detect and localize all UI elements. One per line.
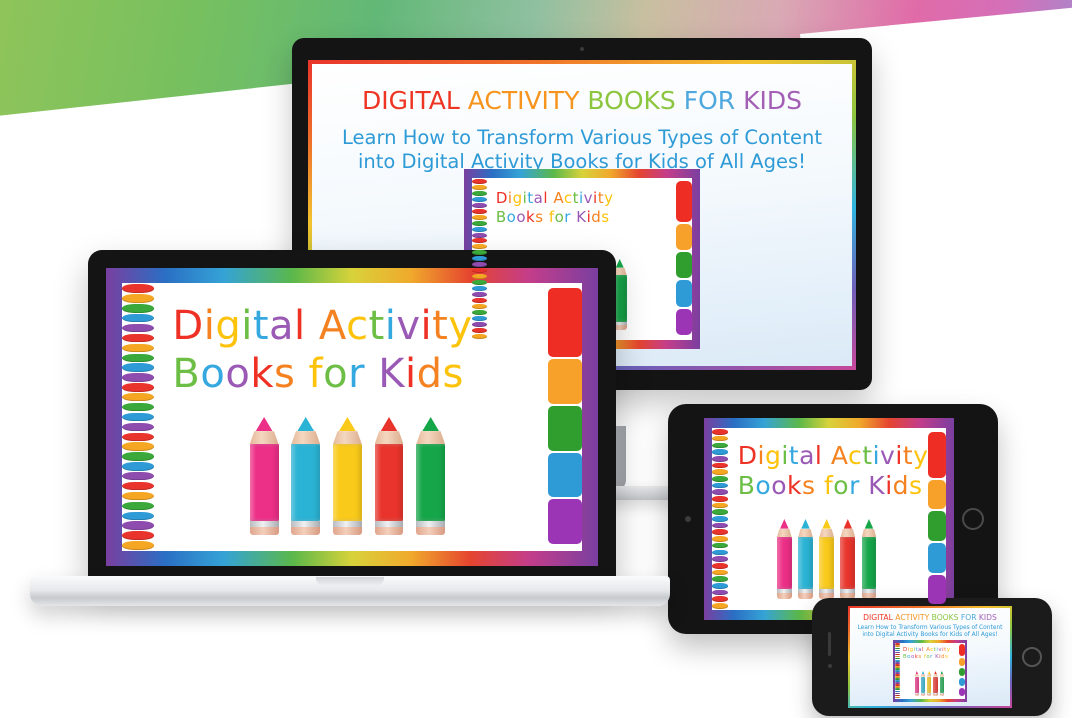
pencil-green [862,519,877,599]
book-cover: Digital ActivityBooks for Kids [893,640,967,702]
pencil-tip [256,417,273,431]
spiral-ring [472,238,487,243]
pencil-green [940,671,944,696]
pencil-body [840,537,855,589]
pencil-ferrule [375,521,404,527]
smartphone: DIGITAL ACTIVITY BOOKS FOR KIDS Learn Ho… [812,598,1052,716]
phone-speaker-icon [828,632,831,656]
cover-title-line-2: Books for Kids [496,208,666,226]
laptop-screen: Digital ActivityBooks for Kids [106,268,598,566]
cover-title-letter: d [417,351,443,397]
pencil-tip [381,417,398,431]
spiral-ring [472,250,487,255]
pencil-body [927,677,931,693]
cover-title-letter: K [378,351,405,397]
cover-title-letter: r [564,208,571,226]
pencil-body [798,537,813,589]
cover-index-tabs [548,288,583,546]
tab-blue[interactable] [928,543,946,573]
cover-title: Digital ActivityBooks for Kids [738,441,918,502]
cover-title-letter: s [443,351,464,397]
cover-title-letter: t [432,303,448,349]
cover-title-letter: o [833,471,849,500]
cover-title-letter: r [348,351,365,397]
cover-title-letter: i [421,303,433,349]
spiral-ring [712,516,728,522]
pencil-row [906,671,952,696]
pencil-pink [915,671,919,696]
headline-word-books: BOOKS [579,86,675,115]
spiral-ring [122,403,154,411]
cover-title-letter: D [496,189,508,207]
cover-title-letter: c [564,189,573,207]
pencil-ferrule [416,521,445,527]
cover-title-line-2: Books for Kids [738,471,918,502]
cover-index-tabs [959,644,964,698]
spiral-ring [122,462,154,470]
headline-word-books: BOOKS [929,613,958,622]
cover-title-letter: c [346,303,369,349]
slide-subline-2: into Digital Activity Books for Kids of … [850,632,1010,639]
spiral-ring [712,563,728,569]
cover-index-tabs [676,181,693,337]
pencil-red [933,671,937,696]
spiral-ring [122,442,154,450]
cover-title-letter: s [535,208,543,226]
cover-title-letter [295,351,308,397]
cover-title-letter: B [172,351,200,397]
pencil-body [291,444,320,521]
pencil-row [749,519,903,599]
pencil-eraser [940,694,944,696]
pencil-body [915,677,919,693]
spiral-ring [122,472,154,480]
pencil-body [375,444,404,521]
cover-title-letter: d [591,208,601,226]
spiral-ring [122,383,154,391]
cover-title-letter: i [873,441,880,470]
spiral-ring [472,328,487,333]
cover-title-letter: t [903,441,913,470]
tab-purple[interactable] [548,499,583,544]
pencil-ferrule [250,521,279,527]
spiral-binding [122,283,154,551]
spiral-ring [472,268,487,273]
spiral-ring [472,209,487,214]
cover-page: Digital ActivityBooks for Kids [895,643,964,699]
cover-title-letter: a [799,441,815,470]
headline-word-activity: ACTIVITY [460,86,580,115]
spiral-ring [122,393,154,401]
spiral-ring [122,482,154,490]
spiral-ring [122,294,154,302]
pencil-cyan [291,417,320,535]
cover-title-letter: i [241,303,253,349]
headline-word-for: FOR [958,613,976,622]
pencil-eraser [927,694,931,696]
spiral-ring [472,310,487,315]
spiral-ring [472,256,487,261]
cover-title: Digital ActivityBooks for Kids [903,647,956,660]
pencil-body [777,537,792,589]
cover-page: Digital ActivityBooks for Kids [122,283,583,551]
cover-title-letter: y [913,441,928,470]
spiral-ring [712,469,728,475]
spiral-ring [472,286,487,291]
cover-title-letter: i [885,471,892,500]
tab-red[interactable] [676,181,693,222]
pencil-red [840,519,855,599]
pencil-eraser [291,527,320,535]
headline-word-digital: DIGITAL [362,86,460,115]
pencil-eraser [933,694,937,696]
spiral-ring [122,284,154,292]
pencil-red [375,417,404,535]
spiral-ring [712,463,728,469]
spiral-ring [712,523,728,529]
slide-book-cover-phone: Digital ActivityBooks for Kids [893,640,967,702]
pencil-body [862,537,877,589]
cover-title-letter: o [225,351,250,397]
phone-home-button[interactable] [1022,647,1042,667]
cover-title-letter: c [848,441,862,470]
spiral-ring [712,576,728,582]
pencil-eraser [250,527,279,535]
pencil-wood [862,529,877,538]
spiral-ring [712,583,728,589]
spiral-ring [122,334,154,342]
spiral-ring [472,280,487,285]
spiral-ring [712,483,728,489]
pencil-green [416,417,445,535]
spiral-ring [122,521,154,529]
spiral-ring [712,509,728,515]
spiral-ring [712,570,728,576]
tablet-screen: Digital ActivityBooks for Kids [704,418,954,620]
spiral-ring [472,316,487,321]
spiral-ring [895,697,900,699]
spiral-ring [122,502,154,510]
tab-purple[interactable] [676,309,693,335]
pencil-yellow [333,417,362,535]
cover-index-tabs [928,432,946,607]
cover-title-letter: s [274,351,295,397]
cover-title-letter: g [513,189,523,207]
spiral-ring [472,298,487,303]
cover-title-letter: k [787,471,802,500]
cover-title: Digital ActivityBooks for Kids [496,189,666,226]
slide-inner: DIGITAL ACTIVITY BOOKS FOR KIDS Learn Ho… [850,608,1010,706]
spiral-ring [472,244,487,249]
spiral-ring [712,443,728,449]
pencil-eraser [921,694,925,696]
slide-content-phone: DIGITAL ACTIVITY BOOKS FOR KIDS Learn Ho… [848,606,1012,708]
pencil-wood [291,431,320,444]
slide-subline-1: Learn How to Transform Various Types of … [850,625,1010,632]
tab-green[interactable] [928,511,946,541]
spiral-ring [122,363,154,371]
tab-purple[interactable] [959,688,964,696]
pencil-body [933,677,937,693]
spiral-ring [122,492,154,500]
tab-blue[interactable] [548,453,583,498]
spiral-ring [122,433,154,441]
pencil-cyan [798,519,813,599]
spiral-ring [472,322,487,327]
cover-title-letter: i [405,351,417,397]
tab-green[interactable] [548,406,583,451]
spiral-ring [122,304,154,312]
cover-title-letter: t [253,303,269,349]
spiral-ring [472,292,487,297]
pencil-tip [801,519,810,529]
cover-title-letter: v [880,441,895,470]
spiral-ring [472,233,487,238]
pencil-body [333,444,362,521]
spiral-ring [472,185,487,190]
cover-title-letter: f [309,351,324,397]
pencil-body [416,444,445,521]
pencil-yellow [927,671,931,696]
book-cover: Digital ActivityBooks for Kids [106,268,598,566]
spiral-ring [472,334,487,339]
headline-word-activity: ACTIVITY [893,613,929,622]
cover-title-letter: i [895,441,902,470]
pencil-tip [941,671,944,674]
spiral-ring [895,688,900,690]
spiral-ring [122,452,154,460]
pencil-eraser [777,593,792,599]
spiral-ring [472,227,487,232]
cover-title-letter: s [802,471,816,500]
tablet-home-button[interactable] [962,508,984,530]
cover-title-letter: o [323,351,348,397]
pencil-tip [339,417,356,431]
cover-title-letter: B [738,471,756,500]
cover-title-letter: s [909,471,923,500]
tab-green[interactable] [959,668,964,676]
spiral-ring [472,203,487,208]
spiral-ring [895,648,900,650]
cover-title-letter: i [204,303,216,349]
spiral-ring [712,529,728,535]
spiral-ring [472,274,487,279]
spiral-ring [895,645,900,647]
tab-orange[interactable] [676,224,693,250]
cover-title-letter: d [893,471,909,500]
spiral-ring [712,503,728,509]
headline-word-digital: DIGITAL [863,613,893,622]
cover-title-letter: g [765,441,781,470]
tab-blue[interactable] [959,678,964,686]
cover-title-letter: f [824,471,833,500]
spiral-ring [712,550,728,556]
pencil-tip [922,671,925,674]
cover-title-letter: g [215,303,241,349]
spiral-ring [122,413,154,421]
pencil-tip [844,519,853,529]
spiral-ring [472,221,487,226]
laptop-lid: Digital ActivityBooks for Kids [88,250,616,580]
pencil-tip [928,671,931,674]
pencil-wood [798,529,813,538]
pencil-eraser [915,694,919,696]
tablet-camera-icon [685,516,691,522]
spiral-ring [472,262,487,267]
cover-title-letter: i [781,441,788,470]
cover-title-letter [365,351,378,397]
cover-title-letter: A [831,441,848,470]
pencil-body [940,677,944,693]
tab-purple[interactable] [928,575,946,605]
spiral-ring [472,304,487,309]
tab-red[interactable] [928,432,946,478]
headline-word-kids: KIDS [735,86,802,115]
headline-word-kids: KIDS [977,613,997,622]
cover-title-line-2: Books for Kids [903,654,956,661]
cover-title-letter: i [758,441,765,470]
cover-title-letter: o [755,471,771,500]
pencil-tip [916,671,919,674]
cover-title-line-2: Books for Kids [172,350,527,399]
pencil-wood [250,431,279,444]
tab-green[interactable] [676,252,693,278]
spiral-binding [712,428,728,610]
pencil-tip [865,519,874,529]
tab-red[interactable] [959,644,964,656]
spiral-ring [712,456,728,462]
pencil-tip [780,519,789,529]
spiral-ring [712,556,728,562]
laptop-trackpad-notch [316,577,384,586]
spiral-ring [122,344,154,352]
pencil-body [921,677,925,693]
headline-word-for: FOR [676,86,735,115]
cover-title-letter: r [849,471,860,500]
tab-blue[interactable] [676,280,693,306]
spiral-ring [122,512,154,520]
pencil-ferrule [333,521,362,527]
cover-title-letter: y [448,303,472,349]
pencil-tip [422,417,439,431]
slide-rainbow-border: DIGITAL ACTIVITY BOOKS FOR KIDS Learn Ho… [848,606,1012,708]
spiral-ring [122,541,154,549]
cover-title-letter: o [771,471,787,500]
spiral-ring [122,423,154,431]
cover-title-letter: t [789,441,799,470]
pencil-wood [819,529,834,538]
cover-title-letter: B [496,208,507,226]
phone-bezel: DIGITAL ACTIVITY BOOKS FOR KIDS Learn Ho… [812,598,1052,716]
cover-title-letter: D [738,441,758,470]
cover-title-letter: A [553,189,564,207]
spiral-binding [895,643,900,699]
spiral-ring [122,354,154,362]
tab-orange[interactable] [928,480,946,510]
cover-title-letter: a [534,189,544,207]
pencil-cyan [921,671,925,696]
cover-page: Digital ActivityBooks for Kids [712,428,946,610]
spiral-ring [122,314,154,322]
cover-title-letter: l [294,303,306,349]
pencil-pink [250,417,279,535]
cover-title-letter: k [250,351,274,397]
cover-title-letter: D [172,303,203,349]
cover-title-letter: s [601,208,609,226]
pencil-ferrule [291,521,320,527]
cover-title-letter [306,303,319,349]
spiral-ring [712,436,728,442]
laptop: Digital ActivityBooks for Kids [30,250,670,620]
cover-title-letter: s [945,654,948,660]
spiral-ring [712,449,728,455]
cover-title-letter: v [396,303,420,349]
spiral-ring [895,691,900,693]
spiral-ring [712,543,728,549]
cover-title-letter: t [862,441,872,470]
pencil-eraser [798,593,813,599]
pencil-tip [297,417,314,431]
spiral-ring [122,373,154,381]
spiral-ring [122,531,154,539]
pencil-tip [934,671,937,674]
slide-subline-1: Learn How to Transform Various Types of … [312,126,852,150]
spiral-ring [122,324,154,332]
cover-title-letter: o [200,351,225,397]
tab-red[interactable] [548,288,583,357]
cover-title-line-1: Digital Activity [496,189,666,207]
pencil-wood [333,431,362,444]
phone-camera-icon [828,664,832,668]
spiral-ring [712,590,728,596]
pencil-wood [840,529,855,538]
tab-orange[interactable] [548,359,583,404]
spiral-ring [472,197,487,202]
spiral-ring [712,476,728,482]
pencil-wood [375,431,404,444]
spiral-binding [472,178,487,340]
book-cover: Digital ActivityBooks for Kids [704,418,954,620]
pencil-tip [822,519,831,529]
cover-title-letter: y [947,647,951,653]
tab-orange[interactable] [959,658,964,666]
pencil-body [250,444,279,521]
pencil-wood [777,529,792,538]
cover-title-letter: i [385,303,397,349]
cover-title-letter: a [269,303,294,349]
pencil-pink [777,519,792,599]
cover-title-letter: K [576,208,586,226]
cover-title-letter: v [584,189,593,207]
spiral-ring [472,215,487,220]
cover-title-letter: k [526,208,535,226]
spiral-ring [712,429,728,435]
spiral-ring [712,489,728,495]
pencil-wood [416,431,445,444]
cover-title-letter: t [369,303,385,349]
cover-title-letter: o [516,208,526,226]
pencil-row [195,417,499,535]
webcam-icon [580,47,584,51]
cover-title-letter [816,471,824,500]
spiral-ring [712,603,728,609]
pencil-body [819,537,834,589]
spiral-ring [712,496,728,502]
phone-screen: DIGITAL ACTIVITY BOOKS FOR KIDS Learn Ho… [848,606,1012,708]
spiral-ring [472,191,487,196]
cover-title-letter: y [604,189,613,207]
spiral-ring [712,536,728,542]
